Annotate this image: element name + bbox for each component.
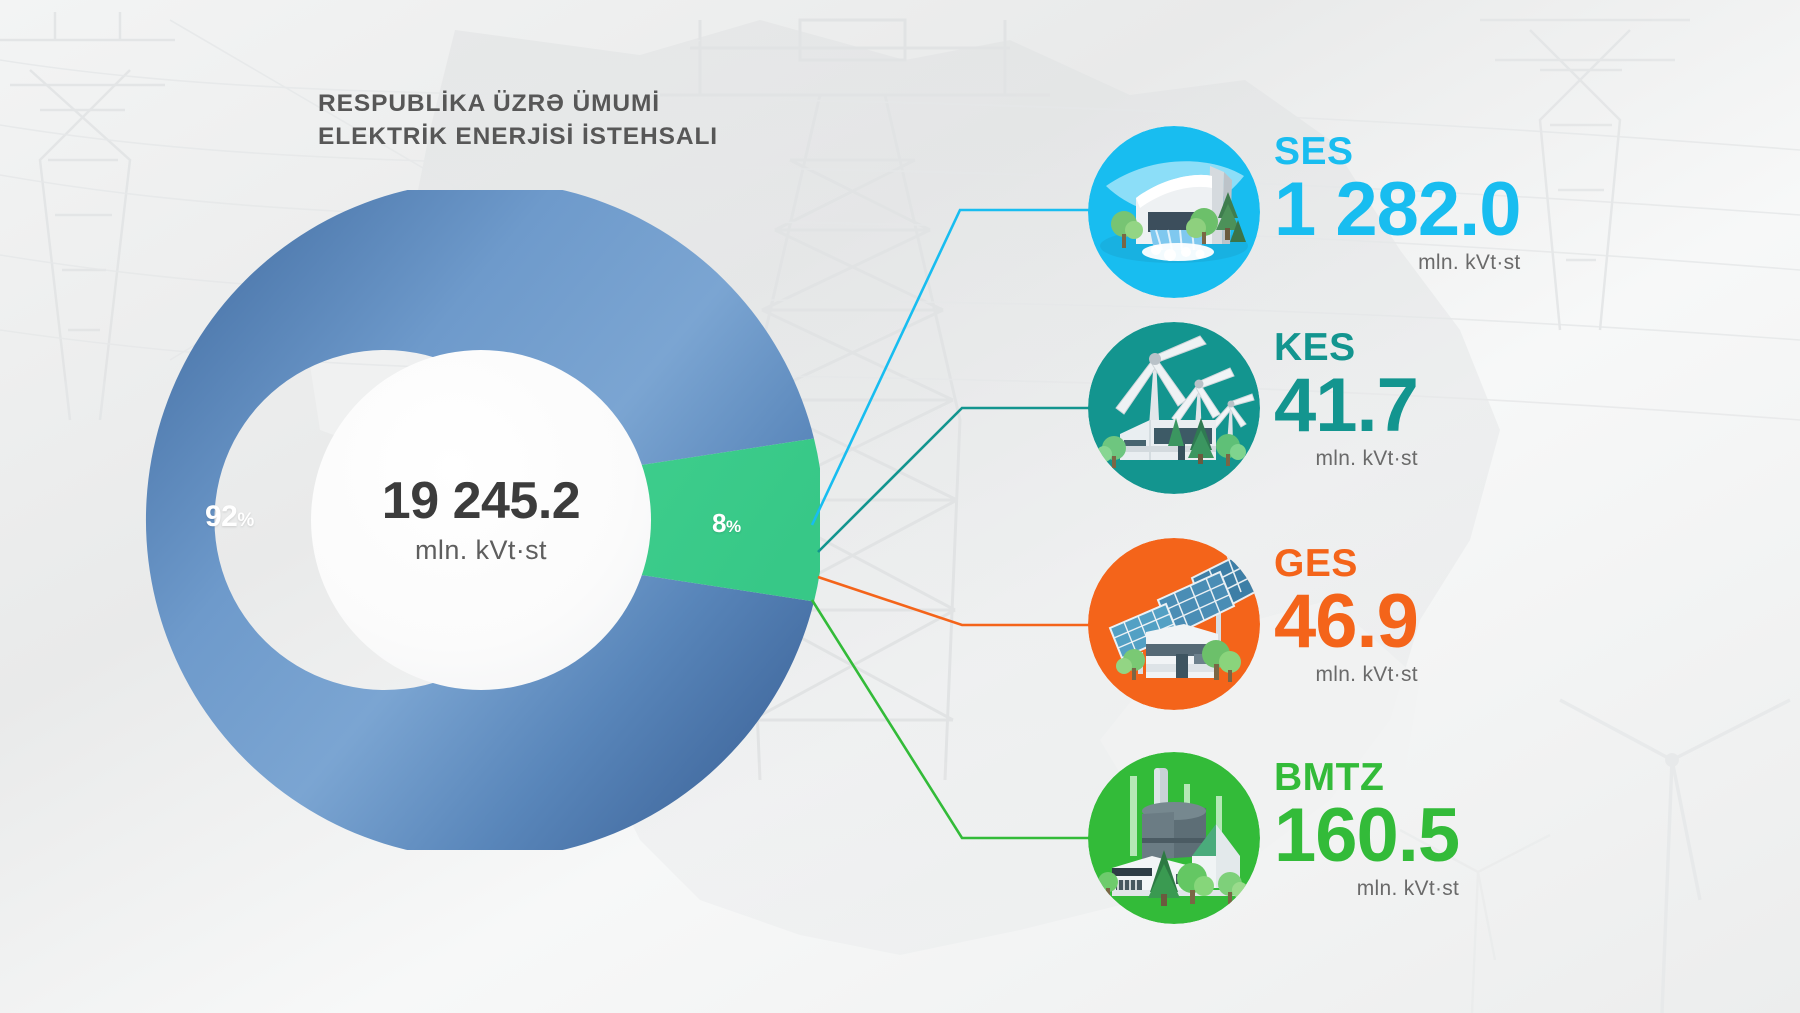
entry-kes-text: KES 41.7 mln. kVt·st — [1274, 328, 1418, 471]
biomass-plant-icon — [1088, 752, 1260, 924]
entry-bmtz-text: BMTZ 160.5 mln. kVt·st — [1274, 758, 1459, 901]
entry-bmtz-value: 160.5 — [1274, 799, 1459, 873]
entry-ses-unit: mln. kVt·st — [1274, 251, 1521, 275]
entry-ges-name: GES — [1274, 544, 1418, 583]
solar-panel-icon — [1088, 538, 1260, 710]
connector-kes — [818, 408, 1100, 552]
entry-bmtz-unit: mln. kVt·st — [1274, 877, 1459, 901]
connector-lines — [0, 0, 1800, 1013]
entry-kes-name: KES — [1274, 328, 1418, 367]
entry-kes-unit: mln. kVt·st — [1274, 447, 1418, 471]
connector-ses — [812, 210, 1100, 525]
connector-ges — [818, 577, 1100, 625]
entry-ses-value: 1 282.0 — [1274, 173, 1521, 247]
entry-kes-value: 41.7 — [1274, 369, 1418, 443]
entry-ges-unit: mln. kVt·st — [1274, 663, 1418, 687]
entry-ges-text: GES 46.9 mln. kVt·st — [1274, 544, 1418, 687]
connector-bmtz — [812, 600, 1100, 838]
entry-ses-name: SES — [1274, 132, 1521, 171]
infographic-canvas: RESPUBLİKA ÜZRƏ ÜMUMİ ELEKTRİK ENERJİSİ … — [0, 0, 1800, 1013]
entry-ges-value: 46.9 — [1274, 585, 1418, 659]
wind-turbine-icon — [1088, 322, 1260, 494]
entry-bmtz-name: BMTZ — [1274, 758, 1459, 797]
hydro-dam-icon — [1088, 126, 1260, 298]
entry-ses-text: SES 1 282.0 mln. kVt·st — [1274, 132, 1521, 275]
